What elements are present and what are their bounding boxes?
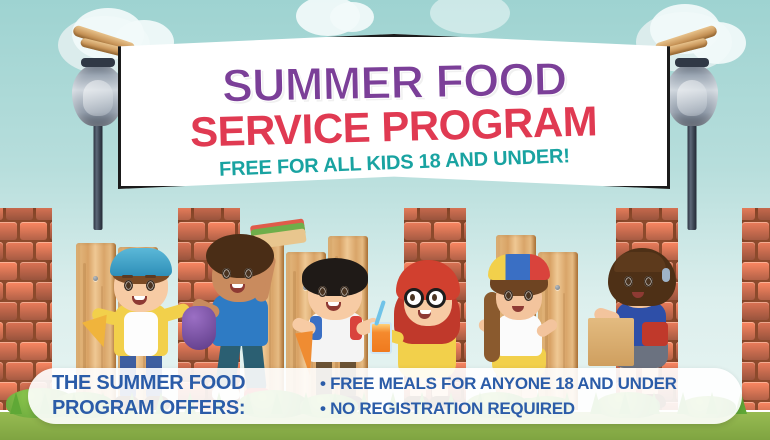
eye: [624, 276, 633, 287]
info-bar-bullet: • NO REGISTRATION REQUIRED: [320, 396, 677, 421]
info-bar-heading: THE SUMMER FOOD PROGRAM OFFERS:: [28, 371, 320, 421]
torso: [496, 314, 542, 356]
paper-grocery-bag-prop: [588, 318, 634, 366]
eye: [524, 290, 533, 301]
lamp-cap: [675, 58, 709, 67]
shirt-red-panel: [642, 322, 668, 346]
summer-food-program-poster: SUMMER FOOD SERVICE PROGRAM FREE FOR ALL…: [0, 0, 770, 440]
cloud-shape: [330, 2, 374, 32]
eyebrow: [145, 275, 156, 278]
cap-colorful: [488, 254, 550, 280]
eye: [222, 268, 231, 279]
main-banner: SUMMER FOOD SERVICE PROGRAM FREE FOR ALL…: [118, 34, 670, 189]
cap-blue: [110, 248, 172, 276]
eye: [146, 280, 155, 291]
lamp-head: [72, 64, 124, 126]
grass-tuft: [10, 392, 22, 414]
lamp-glass: [677, 80, 707, 116]
hair: [302, 258, 368, 296]
info-bar-heading-line-1: THE SUMMER FOOD: [52, 371, 320, 396]
eye: [340, 286, 349, 297]
eyebrow: [122, 275, 133, 278]
eye: [124, 280, 133, 291]
lamp-cap: [81, 58, 115, 67]
lamp-glass: [83, 80, 113, 116]
lamp-head: [666, 64, 718, 126]
juice-glass-prop: [370, 322, 392, 354]
shirt-white-panel: [124, 312, 158, 356]
eye: [409, 293, 417, 302]
hair-afro: [206, 234, 274, 278]
eye: [244, 268, 253, 279]
info-bar-bullet: • FREE MEALS FOR ANYONE 18 AND UNDER: [320, 371, 677, 396]
eye: [318, 286, 327, 297]
grapes-prop: [182, 306, 216, 350]
info-bar-heading-line-2: PROGRAM OFFERS:: [52, 396, 320, 421]
hair-fringe: [614, 252, 666, 272]
info-bar: THE SUMMER FOOD PROGRAM OFFERS: • FREE M…: [28, 368, 742, 424]
info-bar-bullets: • FREE MEALS FOR ANYONE 18 AND UNDER • N…: [320, 371, 677, 421]
eye: [644, 276, 653, 287]
eye: [504, 290, 513, 301]
hair-clip: [662, 268, 670, 282]
eye: [431, 293, 439, 302]
